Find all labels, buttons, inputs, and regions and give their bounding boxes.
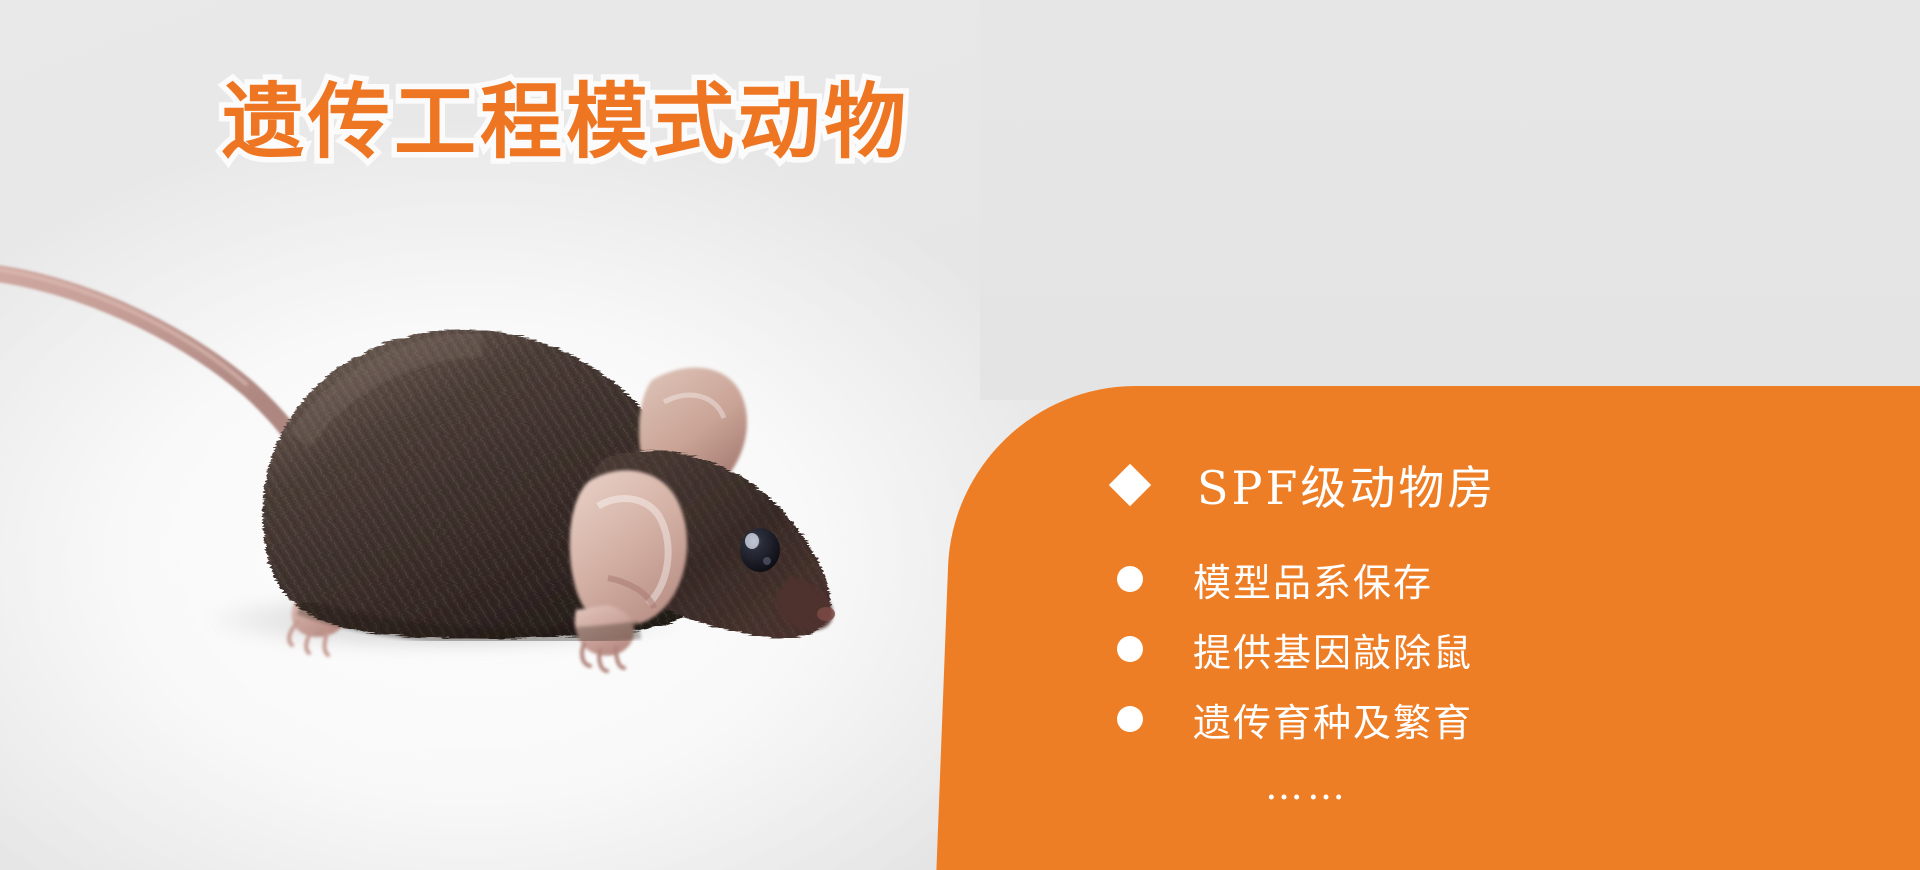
- bullet-dot-icon: [1117, 706, 1143, 732]
- feature-list: SPF级动物房 模型品系保存 提供基因敲除鼠 遗传育种及繁育 ……: [1095, 452, 1795, 808]
- mouse-eye: [740, 528, 780, 572]
- list-item: 提供基因敲除鼠: [1095, 614, 1795, 684]
- feature-heading-row: SPF级动物房: [1095, 452, 1795, 518]
- list-item-label: 遗传育种及繁育: [1193, 692, 1473, 747]
- mouse-tail: [0, 266, 308, 462]
- list-item: 模型品系保存: [1095, 544, 1795, 614]
- list-item-label: 模型品系保存: [1193, 552, 1433, 607]
- list-item-label: 提供基因敲除鼠: [1193, 622, 1473, 677]
- bullet-dot-icon: [1117, 636, 1143, 662]
- banner: 遗传工程模式动物 SPF级动物房 模型品系保存 提供基因敲除鼠 遗传育种及繁育 …: [0, 0, 1920, 870]
- mouse-illustration: [0, 230, 900, 870]
- background-right-panel: [980, 0, 1920, 400]
- mouse-drawing: [0, 230, 900, 870]
- page-title: 遗传工程模式动物: [222, 82, 910, 164]
- bullet-dot-icon: [1117, 566, 1143, 592]
- diamond-icon: [1109, 464, 1151, 506]
- feature-heading-label: SPF级动物房: [1197, 452, 1496, 518]
- list-item: 遗传育种及繁育: [1095, 684, 1795, 754]
- list-ellipsis: ……: [1265, 764, 1795, 808]
